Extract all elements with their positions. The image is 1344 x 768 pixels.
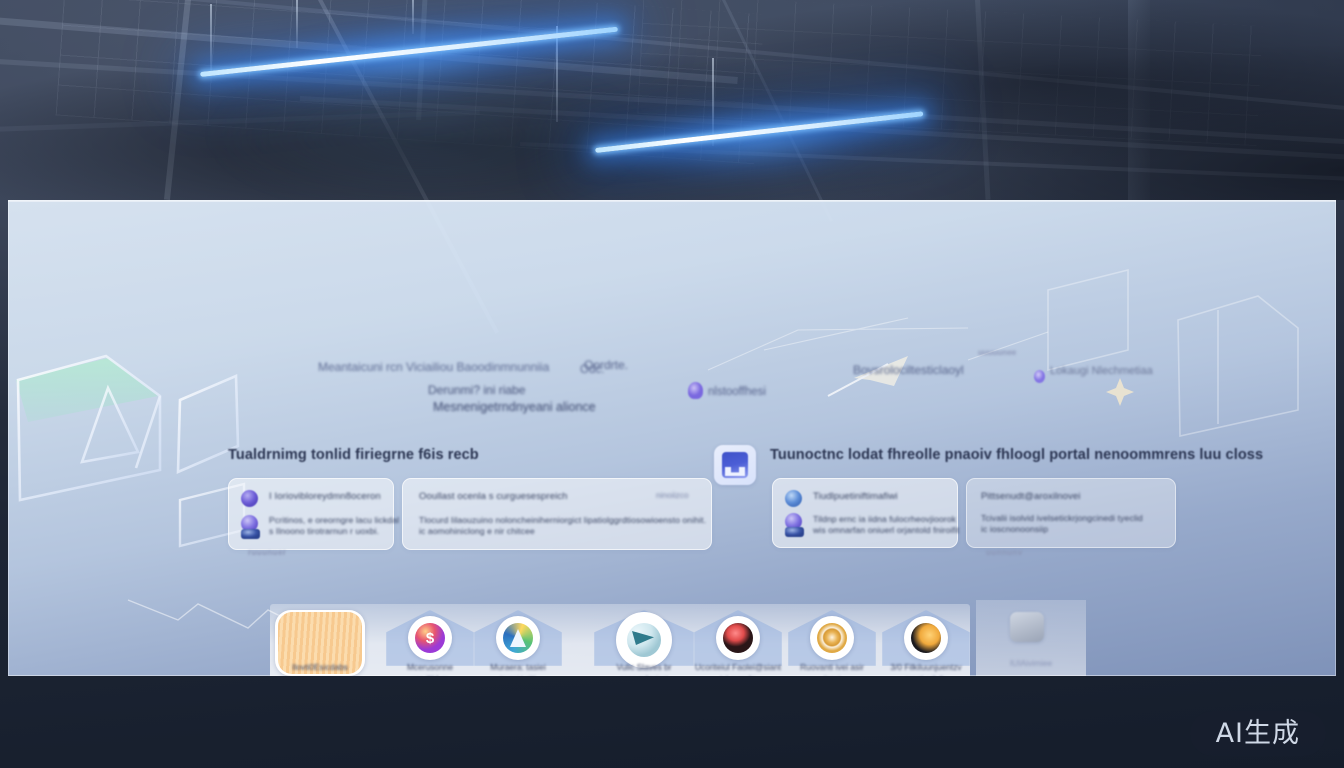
card-c-row2-line2: wis omnarfan oniuerl orjantold fniroifit — [813, 525, 959, 536]
card-d-line2: ic ioscnonoonsiip — [981, 524, 1048, 535]
section-heading-left: Tualdrnimg tonlid firiegrne f6is recb — [228, 447, 479, 463]
coin-dollar-icon — [408, 616, 452, 660]
purple-accent-icon — [688, 382, 703, 399]
app-logo-glyph — [722, 452, 748, 478]
info-card-c[interactable]: Tiudlpuetiniftimafiwi Tildnp ernc ia iid… — [772, 478, 958, 548]
floating-label-1: Meantaicuni rcn Viciailiou Baoodinmnunni… — [318, 360, 549, 374]
tile-caption-7: 3/0 Filkiluunjuentzv oxcati orihdiu — [876, 662, 976, 676]
card-b-line2: ic aomohiniclong e nir chitcee — [419, 526, 535, 537]
app-logo-icon — [714, 445, 756, 485]
card-d-badge: uunnunv — [986, 548, 1023, 557]
grid-tile-4[interactable]: Vulic Slaves br oesovrnlinsieat — [588, 604, 700, 676]
tile-label-2: Mcerusonne — [407, 662, 453, 672]
red-brain-icon — [716, 616, 760, 660]
robot-avatar-base-icon — [241, 529, 260, 539]
tile-caption-6: Ruovanti ivei asir iinnei — [782, 662, 882, 676]
card-b-title: Ooullast ocenla s curguesespreich — [419, 491, 568, 502]
gray-app-icon — [1010, 612, 1044, 642]
chat-bubble-icon — [241, 490, 258, 507]
tile-caption-4: Vulic Slaves br oesovrnlinsieat — [588, 662, 700, 676]
tile-sublabel-2: vaa iEbfuzr — [380, 673, 480, 676]
card-a-row2-line2: s Ilnoono tirotrarnun r uoxbi. — [269, 526, 379, 537]
glass-ui-panel: Tualdrnimg tonlid firiegrne f6is recb Tu… — [8, 200, 1336, 676]
tile-label-3: Muraera: tasiei — [490, 662, 545, 672]
tile-label-1: Ilovti0Esicdabs — [292, 662, 348, 672]
tile-label-5: Ucoriteiul Faolei@siant — [695, 662, 781, 672]
cloud-icon — [785, 490, 802, 507]
tile-sublabel-3: icuoni Laiiti — [468, 673, 568, 676]
tile-sublabel-6: iinnei — [782, 673, 882, 676]
tile-label-4: Vulic Slaves br — [616, 662, 671, 672]
red-brain-art — [723, 623, 753, 653]
grid-center-note-2: ninoiizco — [656, 490, 689, 500]
grid-tile-3[interactable]: Muraera: tasiei icuoni Laiiti — [468, 604, 568, 676]
tile-sublabel-4: oesovrnlinsieat — [588, 673, 700, 676]
coin-dollar-art — [415, 623, 445, 653]
floating-label-6: Bovsrolociltesticlaoyl — [853, 363, 964, 377]
card-a-row2-line1: Pcritinos, e oreorngre lacu lickdal — [269, 515, 399, 526]
paper-plane-icon — [616, 612, 672, 668]
gold-crescent-icon — [904, 616, 948, 660]
card-a-row1-title: I Ioriovibloreydmn8oceron — [269, 491, 381, 502]
card-b-line1: Tlocurd Iilaouzuino noloncheiniherniorgi… — [419, 515, 706, 526]
floating-label-4: Mesnenigetrndnyeani alionce — [433, 400, 596, 414]
section-heading-right: Tuunoctnc lodat fhreolle pnaoiv fhloogl … — [770, 447, 1263, 463]
tile-caption-5: Ucoriteiul Faolei@siant Ivii rasonlia — [688, 662, 788, 676]
paper-plane-art — [627, 623, 661, 657]
grid-tile-2[interactable]: Mcerusonne vaa iEbfuzr — [380, 604, 480, 676]
card-c-row2-line1: Tildnp ernc ia iidna fulocrheovjioorok — [813, 514, 956, 525]
grid-tile-1[interactable]: Ilovti0Esicdabs — [270, 604, 370, 676]
led-strip-light-1 — [200, 27, 618, 72]
tile-label-8: IUIAivimiee — [976, 658, 1086, 668]
led-strip-light-2 — [595, 111, 923, 148]
icon-grid-strip: Ilovti0Esicdabs Mcerusonne vaa iEbfuzr M… — [270, 604, 970, 676]
grid-center-note-1: Odc. — [580, 364, 604, 376]
tile-sublabel-7: oxcati orihdiu — [876, 673, 976, 676]
gold-ring-icon — [810, 616, 854, 660]
purple-accent-icon-small — [1034, 370, 1045, 383]
grid-tile-5[interactable]: Ucoriteiul Faolei@siant Ivii rasonlia — [688, 604, 788, 676]
grid-tile-8[interactable]: IUIAivimiee — [976, 600, 1086, 676]
info-card-b[interactable]: Ooullast ocenla s curguesespreich Tlocur… — [402, 478, 712, 550]
info-card-d[interactable]: Pittsenudt@aroxilnovei Tcivalii isolvid … — [966, 478, 1176, 548]
gold-ring-art — [817, 623, 847, 653]
tile-sublabel-5: Ivii rasonlia — [688, 673, 788, 676]
card-d-line1: Tcivalii isolvid ivelsetickrjongcinedi t… — [981, 513, 1143, 524]
card-d-title: Pittsenudt@aroxilnovei — [981, 491, 1081, 502]
colorwheel-icon — [496, 616, 540, 660]
tile-label-7: 3/0 Filkiluunjuentzv — [890, 662, 961, 672]
tile-caption-3: Muraera: tasiei icuoni Laiiti — [468, 662, 568, 676]
floating-label-3: Derunmi? ini riabe — [428, 383, 525, 397]
grid-tile-7[interactable]: 3/0 Filkiluunjuentzv oxcati orihdiu — [876, 604, 976, 676]
colorwheel-art — [503, 623, 533, 653]
card-a-badge: ruuunuer — [248, 548, 286, 557]
info-card-a[interactable]: I Ioriovibloreydmn8oceron Pcritinos, e o… — [228, 478, 394, 550]
tile-label-6: Ruovanti ivei asir — [800, 662, 864, 672]
floating-label-8: uuuuunee — [978, 348, 1016, 357]
floating-label-7: Lokaugi Nlechmetiaa — [1050, 365, 1153, 377]
tile-caption-2: Mcerusonne vaa iEbfuzr — [380, 662, 480, 676]
grid-tile-6[interactable]: Ruovanti ivei asir iinnei — [782, 604, 882, 676]
gold-crescent-art — [911, 623, 941, 653]
ai-generated-watermark: AI生成 — [1190, 711, 1326, 756]
tile-caption-1: Ilovti0Esicdabs — [270, 662, 370, 673]
server-rack-base-icon — [785, 527, 804, 537]
floating-label-5: nlstooffhesi — [708, 386, 766, 398]
card-c-row1-title: Tiudlpuetiniftimafiwi — [813, 491, 898, 502]
